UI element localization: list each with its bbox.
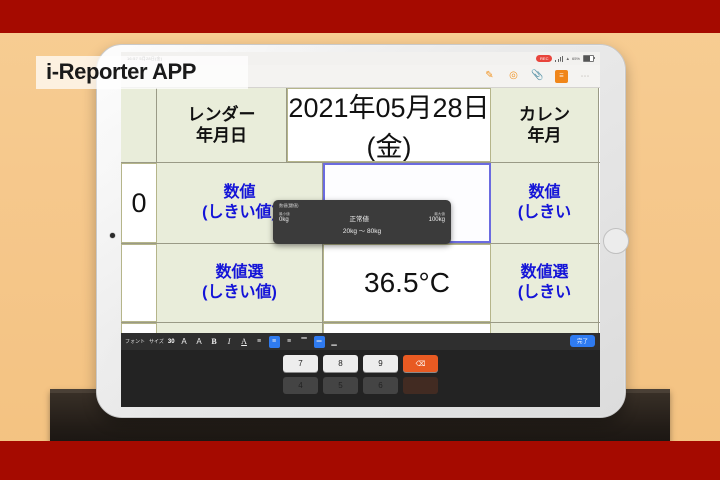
key-7[interactable]: 7	[283, 355, 318, 372]
temperature-value-field[interactable]: 36.5°C	[323, 244, 491, 322]
sheet-row-numeric-select: 数値選 (しきい値) 36.5°C 数値選 (しきい	[121, 244, 600, 323]
key-5[interactable]: 5	[323, 377, 358, 394]
row2-right-label: 数値 (しきい	[491, 163, 599, 243]
backspace-key-icon[interactable]: ⌫	[403, 355, 438, 372]
letterbox-top-bar	[0, 0, 720, 33]
more-options-icon[interactable]: ⋯	[579, 70, 592, 83]
keypad-row-789: 7 8 9 ⌫	[121, 350, 600, 372]
row2-right-line1: 数値	[518, 183, 571, 203]
italic-button[interactable]: I	[224, 336, 235, 348]
font-label: フォント	[125, 338, 145, 345]
key-4[interactable]: 4	[283, 377, 318, 394]
tooltip-min-value: 0kg	[279, 217, 290, 223]
page-title: i-Reporter APP	[46, 58, 246, 86]
tooltip-normal-group: 正常値	[349, 213, 369, 223]
tooltip-max-value: 100kg	[429, 217, 445, 223]
row2-right-line2: (しきい	[518, 203, 571, 223]
memo-document-icon[interactable]: ☰	[555, 70, 568, 83]
increase-font-size-button[interactable]: A	[179, 336, 190, 348]
status-indicators: REC ▴ 65%	[536, 55, 594, 62]
key-8[interactable]: 8	[323, 355, 358, 372]
row1-right-line1: カレン	[519, 104, 570, 125]
home-button[interactable]	[603, 228, 629, 254]
numeric-keypad: 7 8 9 ⌫ 4 5 6	[121, 350, 600, 407]
bold-button[interactable]: B	[209, 336, 220, 348]
threshold-tooltip: 数値(閾値) 最小値 0kg 正常値 最大値 100kg 20kg ～ 80kg	[273, 200, 451, 244]
key-6[interactable]: 6	[363, 377, 398, 394]
tooltip-title: 数値(閾値)	[279, 203, 445, 209]
row1-label-line2: 年月日	[188, 125, 256, 146]
align-center-button[interactable]: ≡	[269, 336, 280, 348]
row2-left-value[interactable]: 0	[121, 163, 157, 243]
tooltip-values-row: 最小値 0kg 正常値 最大値 100kg	[279, 212, 445, 223]
format-toolbar: フォント サイズ 30 A A B I A ≡ ≡ ≡ ▔ ═ ▁ 完了	[121, 333, 600, 350]
recording-badge: REC	[536, 55, 552, 62]
signature-pen-icon[interactable]: ✎	[483, 70, 496, 83]
row3-label-numeric-select: 数値選 (しきい値)	[157, 244, 323, 322]
row1-label-calendar: レンダー 年月日	[157, 88, 287, 162]
tooltip-max-group: 最大値 100kg	[429, 212, 445, 223]
valign-middle-button[interactable]: ═	[314, 336, 325, 348]
key-9[interactable]: 9	[363, 355, 398, 372]
font-size-value[interactable]: 30	[168, 339, 175, 345]
row1-right-label: カレン 年月	[491, 88, 599, 162]
row1-label-line1: レンダー	[188, 104, 256, 125]
signal-bars-icon	[555, 56, 563, 62]
row2-label-line1: 数値	[202, 183, 277, 203]
tooltip-min-group: 最小値 0kg	[279, 212, 290, 223]
row1-left-cell	[121, 88, 157, 162]
wifi-icon: ▴	[566, 56, 569, 62]
row2-label-line2: (しきい値)	[202, 203, 277, 223]
decrease-font-size-button[interactable]: A	[194, 336, 205, 348]
tooltip-normal-label: 正常値	[349, 213, 369, 223]
battery-percent: 65%	[572, 56, 580, 61]
row3-label-line1: 数値選	[202, 263, 277, 283]
sheet-row-calendar: レンダー 年月日 2021年05月28日(金) カレン 年月	[121, 88, 600, 163]
row1-right-line2: 年月	[519, 125, 570, 146]
battery-icon	[583, 55, 594, 62]
letterbox-bottom-bar	[0, 441, 720, 480]
tablet-screen[interactable]: 16:57 5月28日(金) REC ▴ 65% ✎ ◎ 📎 ☰ ⋯	[121, 52, 600, 407]
row3-right-line1: 数値選	[518, 263, 571, 283]
row3-label-line2: (しきい値)	[202, 283, 277, 303]
size-label: サイズ	[149, 338, 164, 345]
align-left-button[interactable]: ≡	[254, 336, 265, 348]
row3-right-line2: (しきい	[518, 283, 571, 303]
backspace-key-dim-icon[interactable]	[403, 377, 438, 394]
screenshot-stage: 16:57 5月28日(金) REC ▴ 65% ✎ ◎ 📎 ☰ ⋯	[0, 0, 720, 480]
front-camera-dot-icon	[110, 233, 115, 238]
done-button[interactable]: 完了	[570, 335, 595, 347]
paperclip-icon[interactable]: 📎	[531, 70, 544, 83]
tooltip-normal-range: 20kg ～ 80kg	[279, 225, 445, 235]
valign-top-button[interactable]: ▔	[299, 336, 310, 348]
align-right-button[interactable]: ≡	[284, 336, 295, 348]
valign-bottom-button[interactable]: ▁	[329, 336, 340, 348]
keypad-row-456: 4 5 6	[121, 372, 600, 394]
row3-left-value[interactable]	[121, 244, 157, 322]
underline-button[interactable]: A	[239, 336, 250, 348]
date-value-field[interactable]: 2021年05月28日(金)	[287, 88, 491, 162]
stamp-icon[interactable]: ◎	[507, 70, 520, 83]
row3-right-label: 数値選 (しきい	[491, 244, 599, 322]
